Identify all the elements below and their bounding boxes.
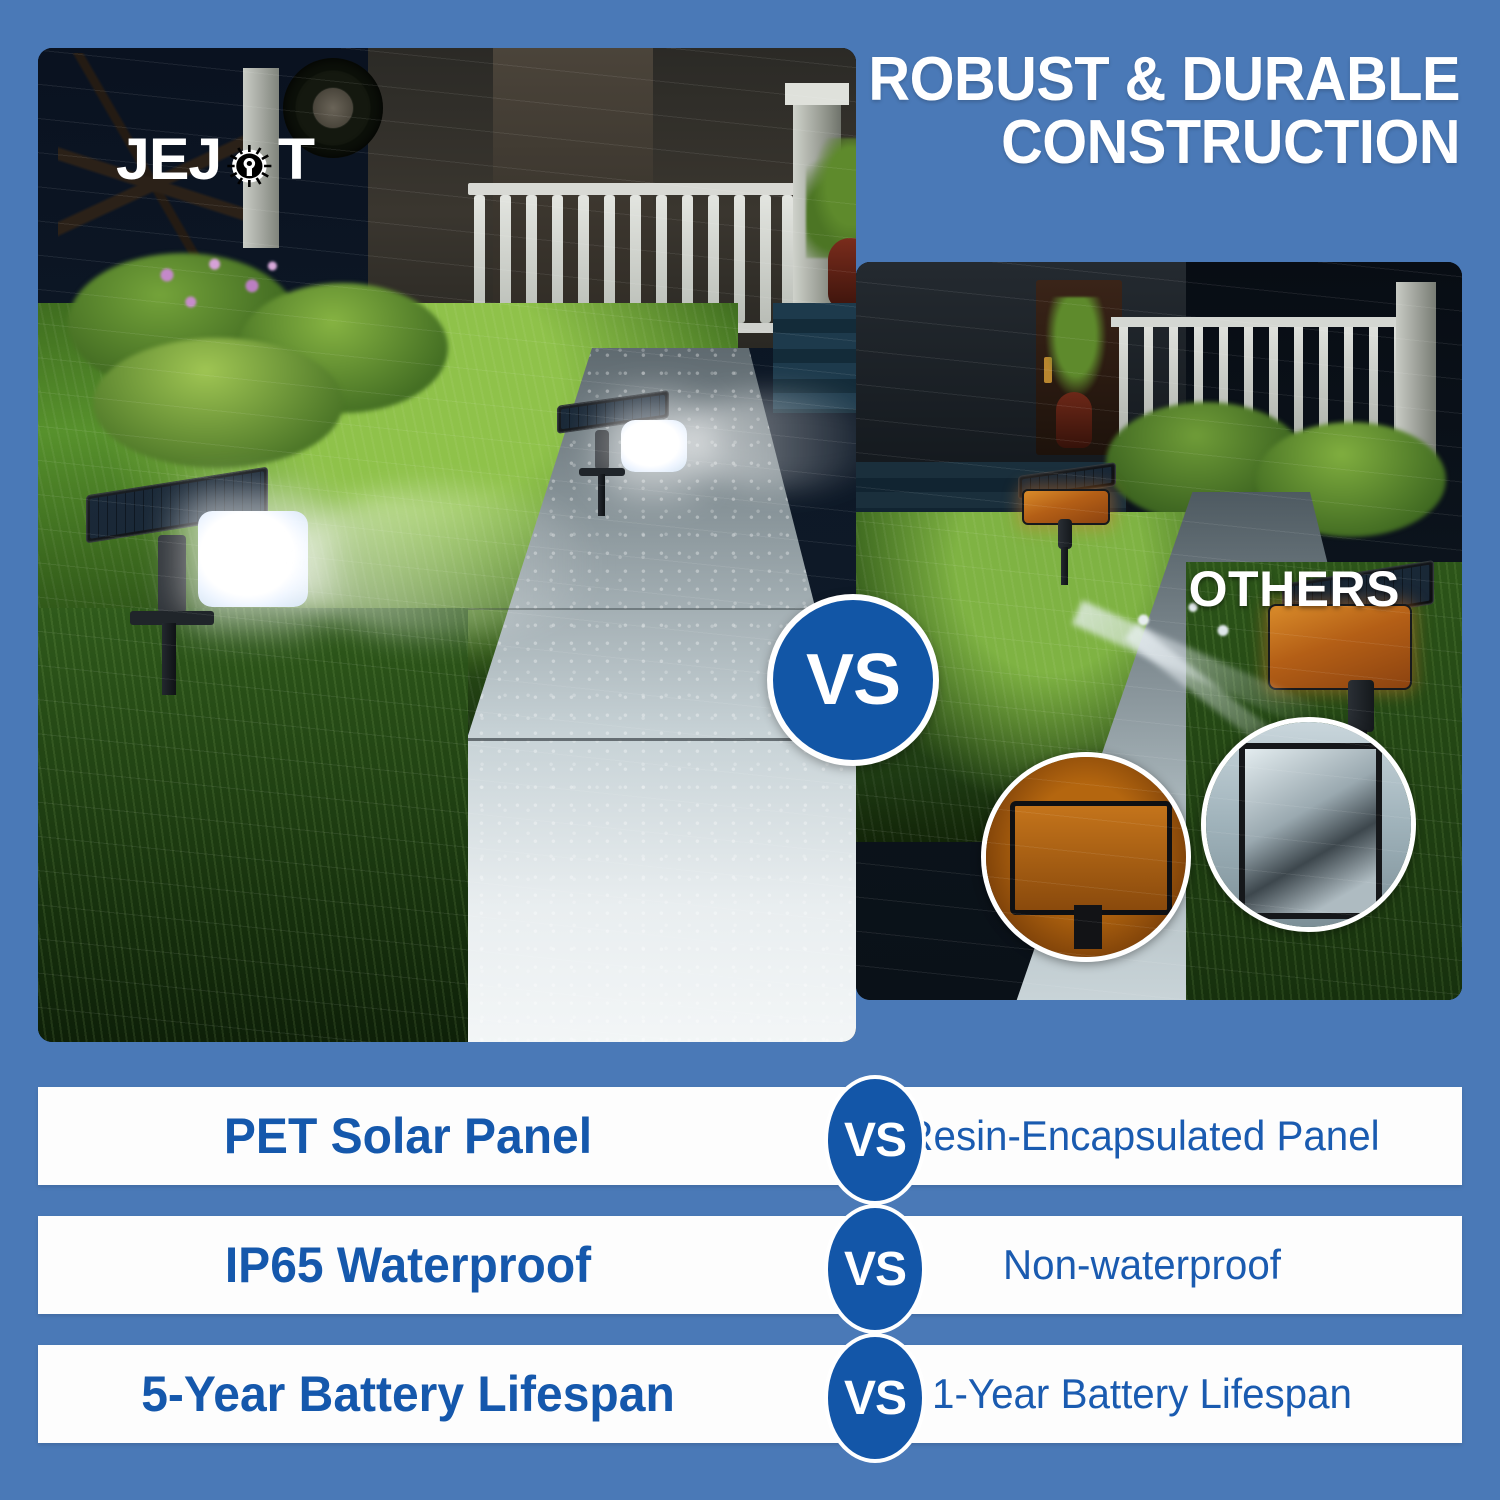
feature-theirs: Non-waterproof [835, 1216, 1449, 1314]
water-damaged-amber-lens-inset [981, 752, 1191, 962]
feature-theirs: Resin-Encapsulated Panel [835, 1087, 1449, 1185]
purple-flowers [133, 248, 303, 338]
feature-ours: PET Solar Panel [53, 1087, 763, 1185]
logo-text-left: JEJ [116, 126, 221, 193]
sunburst-bulb-icon [223, 138, 276, 188]
flower-vase [1056, 392, 1092, 448]
product-photo-right: OTHERS [856, 262, 1462, 1000]
product-photo-left: JEJ [38, 48, 856, 1042]
vs-badge-row: VS [824, 1204, 926, 1334]
jejot-spotlight-main [58, 463, 318, 693]
competitor-spotlight-upper [1006, 457, 1136, 577]
brand-logo: JEJ [116, 126, 314, 193]
feature-ours: IP65 Waterproof [53, 1216, 763, 1314]
vs-badge-row: VS [824, 1333, 926, 1463]
potted-plant [1041, 297, 1111, 407]
comparison-row: 5-Year Battery Lifespan VS 1-Year Batter… [38, 1345, 1462, 1443]
headline-line-1: ROBUST & DURABLE [809, 48, 1460, 111]
others-label: OTHERS [1189, 560, 1400, 618]
jejot-spotlight-upper [543, 378, 693, 508]
comparison-row: PET Solar Panel VS Resin-Encapsulated Pa… [38, 1087, 1462, 1185]
frosted-cracked-solar-panel-inset [1201, 717, 1416, 932]
porch-steps [773, 303, 856, 413]
headline-line-2: CONSTRUCTION [809, 111, 1460, 174]
logo-text-right: T [278, 126, 314, 193]
page-title: ROBUST & DURABLE CONSTRUCTION [809, 48, 1460, 174]
feature-theirs: 1-Year Battery Lifespan [835, 1345, 1449, 1443]
vs-badge-center: VS [767, 594, 939, 766]
vs-badge-row: VS [824, 1075, 926, 1205]
comparison-row: IP65 Waterproof VS Non-waterproof [38, 1216, 1462, 1314]
shrub [93, 338, 343, 468]
feature-ours: 5-Year Battery Lifespan [53, 1345, 763, 1443]
flower-vase [828, 238, 856, 308]
